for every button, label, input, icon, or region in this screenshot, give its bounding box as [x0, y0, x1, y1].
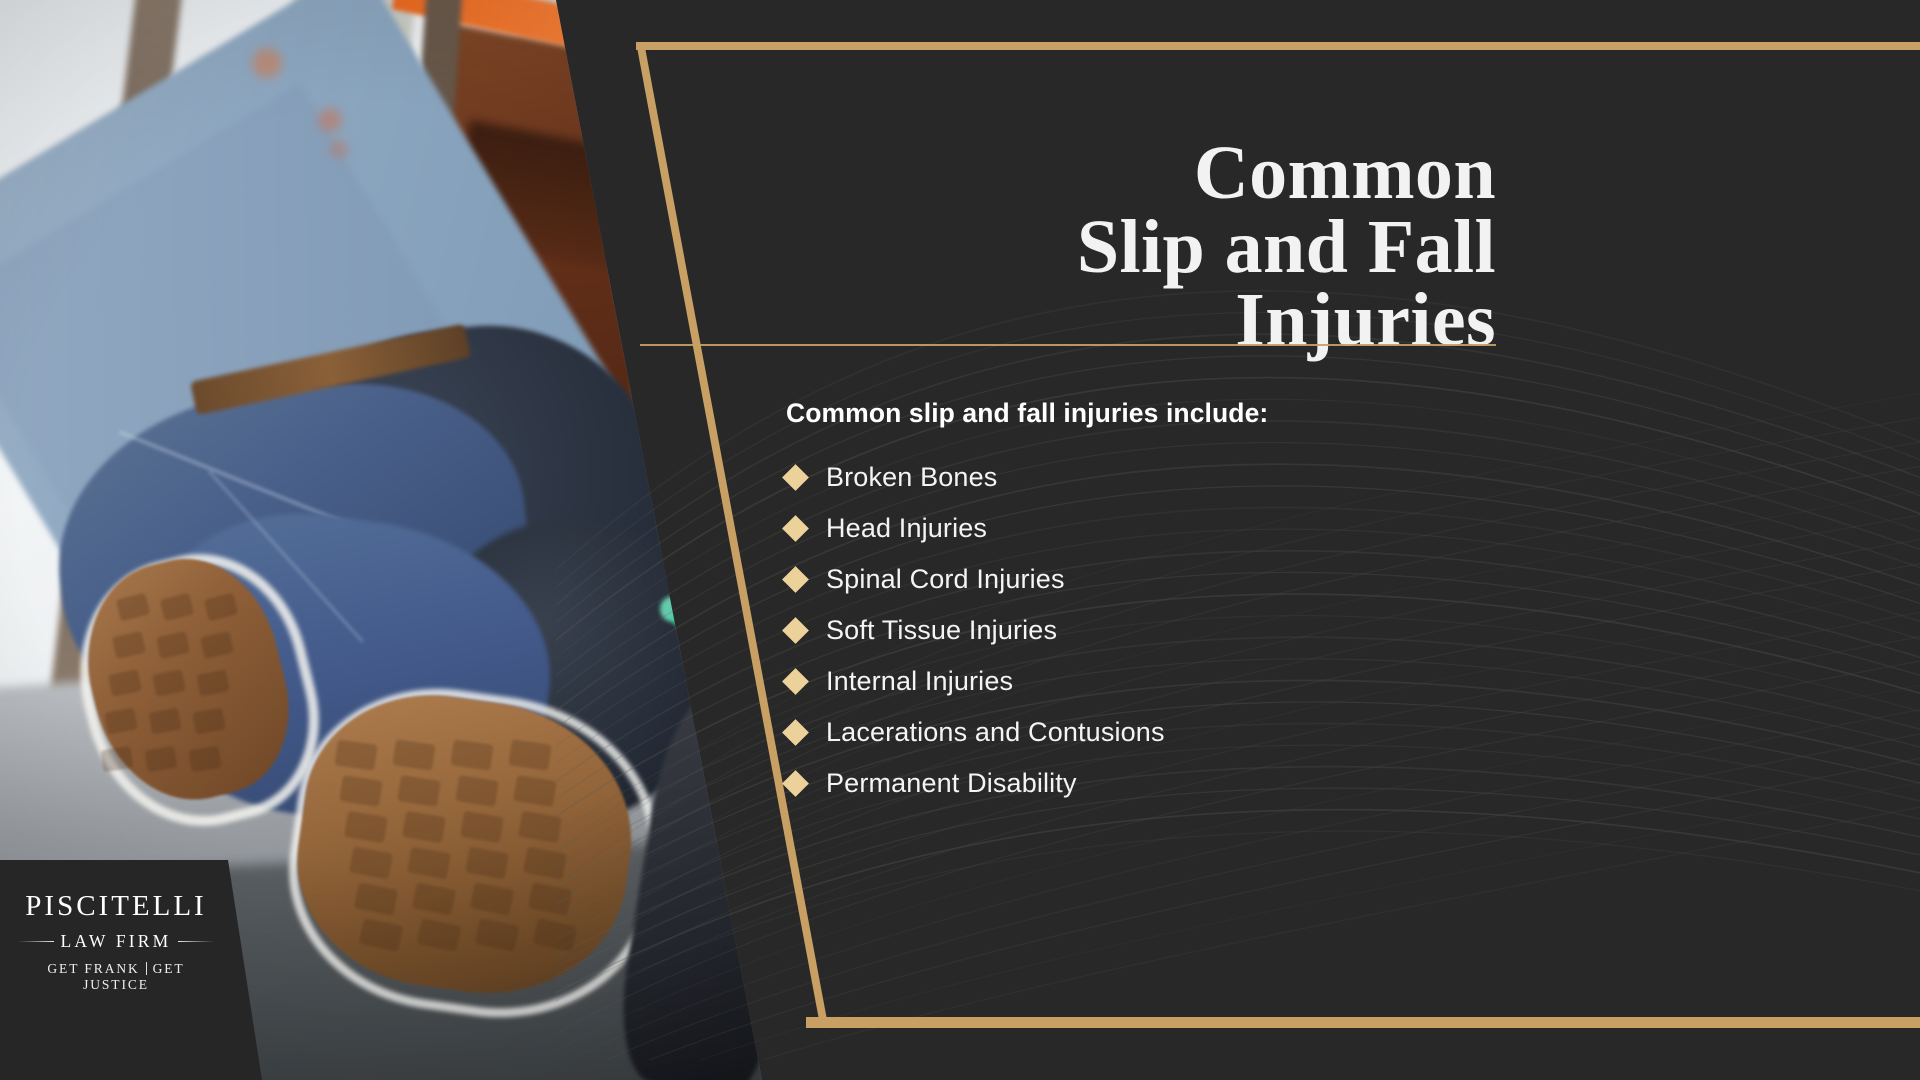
title-line-2: Slip and Fall [900, 211, 1496, 285]
diamond-bullet-icon [782, 566, 809, 593]
logo-tagline: GET FRANKGET JUSTICE [18, 961, 214, 993]
law-firm-logo[interactable]: PISCITELLI LAW FIRM GET FRANKGET JUSTICE [0, 860, 262, 1080]
slide-canvas: Common Slip and Fall Injuries Common sli… [0, 0, 1920, 1080]
logo-rule-right [178, 941, 214, 942]
list-item-label: Broken Bones [826, 462, 997, 493]
diamond-bullet-icon [782, 617, 809, 644]
list-item: Lacerations and Contusions [786, 707, 1546, 758]
diamond-bullet-icon [782, 464, 809, 491]
list-item-label: Soft Tissue Injuries [826, 615, 1057, 646]
diamond-bullet-icon [782, 719, 809, 746]
logo-tagline-left: GET FRANK [47, 961, 139, 976]
list-item-label: Lacerations and Contusions [826, 717, 1165, 748]
list-item: Soft Tissue Injuries [786, 605, 1546, 656]
list-item-label: Permanent Disability [826, 768, 1077, 799]
gold-divider [640, 344, 1496, 346]
list-item: Head Injuries [786, 503, 1546, 554]
diamond-bullet-icon [782, 668, 809, 695]
injury-list: Broken BonesHead InjuriesSpinal Cord Inj… [786, 452, 1546, 809]
logo-content: PISCITELLI LAW FIRM GET FRANKGET JUSTICE [18, 892, 214, 993]
diamond-bullet-icon [782, 770, 809, 797]
logo-subtitle-row: LAW FIRM [18, 931, 214, 952]
list-item: Broken Bones [786, 452, 1546, 503]
logo-subtitle: LAW FIRM [61, 931, 172, 952]
intro-text: Common slip and fall injuries include: [786, 398, 1268, 429]
list-item-label: Internal Injuries [826, 666, 1013, 697]
list-item: Internal Injuries [786, 656, 1546, 707]
list-item: Permanent Disability [786, 758, 1546, 809]
title-line-3: Injuries [900, 284, 1496, 358]
list-item: Spinal Cord Injuries [786, 554, 1546, 605]
logo-tagline-separator [146, 962, 147, 975]
logo-firm-name: PISCITELLI [18, 892, 214, 921]
logo-rule-left [18, 941, 54, 942]
gold-border-bottom [806, 1017, 1920, 1028]
diamond-bullet-icon [782, 515, 809, 542]
title-line-1: Common [900, 137, 1496, 211]
slide-title: Common Slip and Fall Injuries [900, 137, 1496, 358]
gold-border-top [636, 42, 1920, 50]
list-item-label: Head Injuries [826, 513, 987, 544]
list-item-label: Spinal Cord Injuries [826, 564, 1065, 595]
